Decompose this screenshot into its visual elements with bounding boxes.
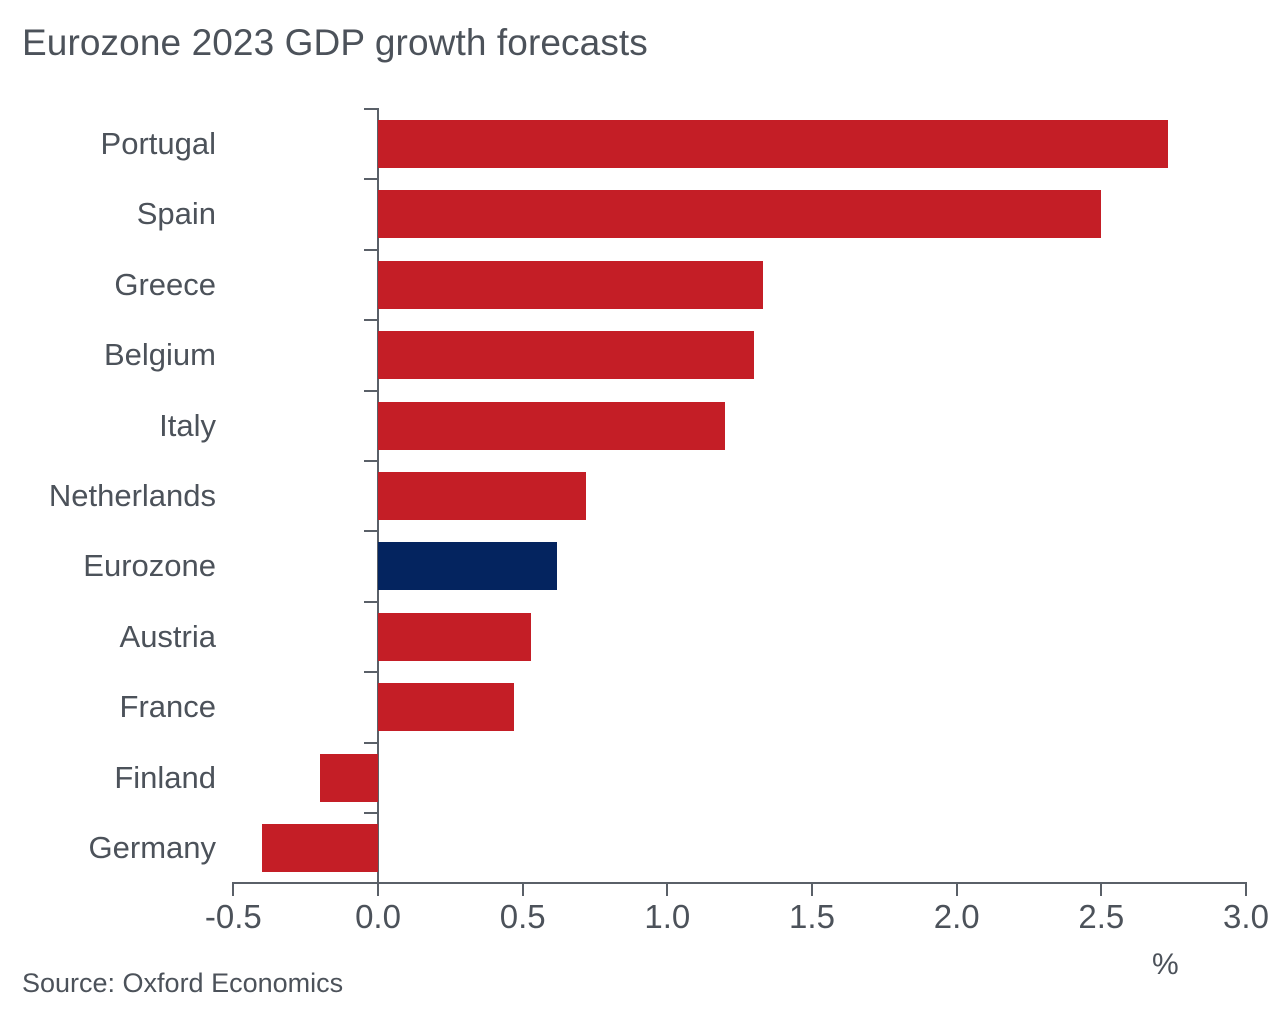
x-axis-tick: [666, 884, 668, 896]
x-axis-tick-label: 0.0: [355, 898, 401, 936]
x-axis-tick: [522, 884, 524, 896]
bar-germany[interactable]: [262, 824, 378, 872]
x-axis-tick: [1100, 884, 1102, 896]
x-axis-tick-label: 1.0: [644, 898, 690, 936]
y-axis-tick: [364, 882, 378, 884]
y-axis-tick: [364, 249, 378, 251]
x-axis-tick-label: 1.5: [789, 898, 835, 936]
category-label-spain: Spain: [137, 196, 216, 232]
source-note: Source: Oxford Economics: [22, 968, 343, 999]
bar-france[interactable]: [378, 683, 514, 731]
y-axis-tick: [364, 671, 378, 673]
y-axis-tick: [364, 460, 378, 462]
bar-portugal[interactable]: [378, 120, 1168, 168]
y-axis-tick: [364, 530, 378, 532]
bar-italy[interactable]: [378, 402, 725, 450]
category-label-portugal: Portugal: [101, 126, 216, 162]
x-axis-unit-label: %: [1152, 948, 1179, 982]
y-axis-tick: [364, 178, 378, 180]
x-axis-tick: [1245, 884, 1247, 896]
category-label-belgium: Belgium: [104, 337, 216, 373]
x-axis-line: [232, 882, 1247, 884]
x-axis-tick-label: 0.5: [500, 898, 546, 936]
category-label-finland: Finland: [114, 760, 216, 796]
bar-eurozone[interactable]: [378, 542, 557, 590]
x-axis-tick: [811, 884, 813, 896]
plot-area: -0.50.00.51.01.52.02.53.0PortugalSpainGr…: [0, 0, 1280, 1022]
category-label-greece: Greece: [114, 267, 216, 303]
category-label-netherlands: Netherlands: [49, 478, 216, 514]
category-label-france: France: [120, 689, 216, 725]
x-axis-tick-label: -0.5: [205, 898, 262, 936]
category-label-italy: Italy: [159, 408, 216, 444]
x-axis-tick-label: 2.5: [1078, 898, 1124, 936]
bar-finland[interactable]: [320, 754, 378, 802]
bar-belgium[interactable]: [378, 331, 754, 379]
x-axis-tick: [956, 884, 958, 896]
y-axis-tick: [364, 108, 378, 110]
y-axis-tick: [364, 390, 378, 392]
y-axis-tick: [364, 319, 378, 321]
category-label-germany: Germany: [89, 830, 216, 866]
y-axis-tick: [364, 812, 378, 814]
x-axis-tick-label: 3.0: [1223, 898, 1269, 936]
chart-container: Eurozone 2023 GDP growth forecasts -0.50…: [0, 0, 1280, 1022]
bar-greece[interactable]: [378, 261, 763, 309]
y-axis-tick: [364, 742, 378, 744]
bar-spain[interactable]: [378, 190, 1101, 238]
x-axis-tick: [377, 884, 379, 896]
bar-netherlands[interactable]: [378, 472, 586, 520]
x-axis-tick-label: 2.0: [934, 898, 980, 936]
category-label-eurozone: Eurozone: [83, 548, 216, 584]
bar-austria[interactable]: [378, 613, 531, 661]
category-label-austria: Austria: [120, 619, 216, 655]
x-axis-tick: [232, 884, 234, 896]
y-axis-tick: [364, 601, 378, 603]
